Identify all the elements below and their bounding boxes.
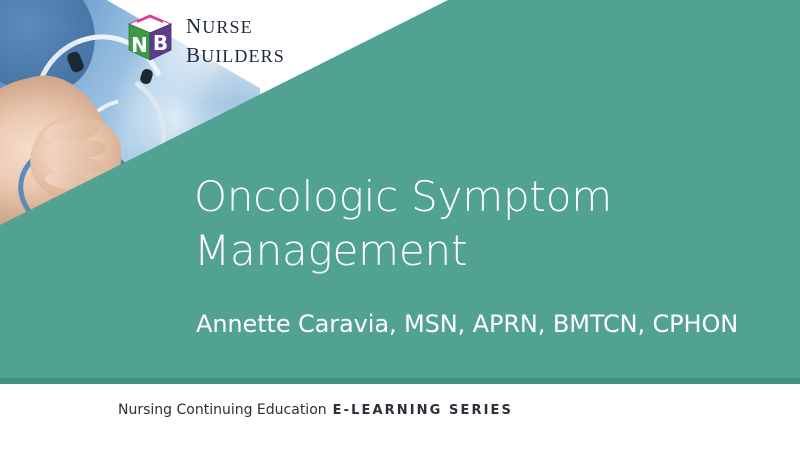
page-title: Oncologic Symptom Management <box>194 170 754 278</box>
footer-bar: Nursing Continuing EducationE-LEARNING S… <box>0 384 800 450</box>
brand-wordmark: Nurse Builders <box>186 9 285 68</box>
author-credentials: Annette Caravia, MSN, APRN, BMTCN, CPHON <box>196 310 756 338</box>
svg-text:N: N <box>131 33 148 57</box>
footer-caption: Nursing Continuing EducationE-LEARNING S… <box>118 402 513 418</box>
svg-text:B: B <box>153 31 168 55</box>
footer-lead-text: Nursing Continuing Education <box>118 402 327 418</box>
brand-logo: N B Nurse Builders <box>128 9 285 68</box>
title-slide: N B Nurse Builders Oncologic Symptom Man… <box>0 0 800 450</box>
nurse-builders-cube-logo-icon: N B <box>128 14 172 62</box>
brand-name-line2: Builders <box>186 38 285 67</box>
footer-series-text: E-LEARNING SERIES <box>333 403 513 418</box>
brand-name-line1: Nurse <box>186 9 285 38</box>
